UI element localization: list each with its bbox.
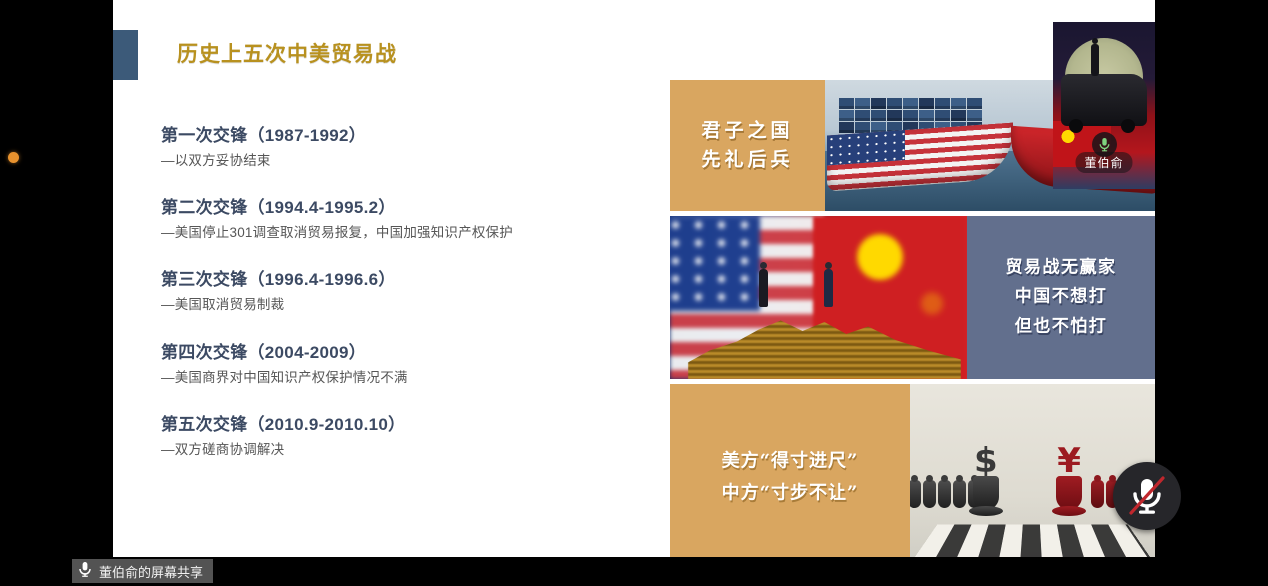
chess-caption-line2: 中方“寸步不让”: [722, 478, 859, 510]
bullet-detail: —双方磋商协调解决: [161, 440, 701, 460]
yuan-symbol: ¥: [1052, 444, 1086, 478]
cargo-caption-line1: 君子之国: [701, 116, 793, 145]
trade-war-caption-line1: 贸易战无赢家: [1006, 253, 1117, 283]
microphone-muted-icon: [1128, 475, 1166, 517]
businessman-figure-cn: [824, 269, 833, 307]
bullet-heading: 第三次交锋（1996.4-1996.6）: [161, 269, 701, 292]
person-silhouette: [1091, 44, 1099, 76]
bullet-heading: 第二次交锋（1994.4-1995.2）: [161, 197, 701, 220]
chess-caption-line1: 美方“得寸进尺”: [722, 445, 859, 477]
microphone-icon: [78, 561, 92, 581]
bullet-heading: 第五次交锋（2010.9-2010.10）: [161, 414, 701, 437]
bullet-heading: 第一次交锋（1987-1992）: [161, 125, 701, 148]
flags-coins-photo: [670, 216, 967, 379]
bullet-heading: 第四次交锋（2004-2009）: [161, 342, 701, 365]
chess-photo: $ ¥: [910, 384, 1155, 557]
bullet-detail: —美国取消贸易制裁: [161, 295, 701, 315]
cargo-caption: 君子之国 先礼后兵: [701, 116, 793, 175]
self-view-video-thumbnail[interactable]: 董伯俞: [1053, 22, 1155, 189]
cargo-caption-panel: 君子之国 先礼后兵: [670, 80, 825, 211]
trade-war-caption-panel: 贸易战无赢家 中国不想打 但也不怕打: [967, 216, 1155, 379]
screen-share-indicator[interactable]: 董伯俞的屏幕共享: [72, 559, 213, 583]
list-item: 第四次交锋（2004-2009） —美国商界对中国知识产权保护情况不满: [161, 342, 701, 388]
chess-caption: 美方“得寸进尺” 中方“寸步不让”: [722, 445, 859, 510]
jeep-silhouette: [1061, 74, 1147, 126]
trade-war-caption-line3: 但也不怕打: [1006, 312, 1117, 342]
businessman-figure-us: [759, 269, 768, 307]
list-item: 第一次交锋（1987-1992） —以双方妥协结束: [161, 125, 701, 171]
trade-war-caption-line2: 中国不想打: [1006, 283, 1117, 313]
bottom-bar: 董伯俞的屏幕共享: [0, 557, 1268, 586]
meeting-stage: 历史上五次中美贸易战 第一次交锋（1987-1992） —以双方妥协结束 第二次…: [0, 0, 1268, 586]
mute-toggle-button[interactable]: [1113, 462, 1181, 530]
participant-name-badge: 董伯俞: [1075, 152, 1132, 173]
chess-board: [910, 525, 1155, 557]
chess-caption-panel: 美方“得寸进尺” 中方“寸步不让”: [670, 384, 910, 557]
dollar-symbol: $: [969, 444, 1003, 478]
list-item: 第五次交锋（2010.9-2010.10） —双方磋商协调解决: [161, 414, 701, 460]
flags-coins-image: 贸易战无赢家 中国不想打 但也不怕打: [670, 216, 1155, 379]
page-title: 历史上五次中美贸易战: [177, 38, 397, 68]
trade-war-caption: 贸易战无赢家 中国不想打 但也不怕打: [1006, 253, 1117, 342]
bullet-list: 第一次交锋（1987-1992） —以双方妥协结束 第二次交锋（1994.4-1…: [161, 125, 701, 486]
slide-accent-bar: [113, 30, 138, 80]
list-item: 第二次交锋（1994.4-1995.2） —美国停止301调查取消贸易报复，中国…: [161, 197, 701, 243]
cargo-caption-line2: 先礼后兵: [701, 146, 793, 175]
list-item: 第三次交锋（1996.4-1996.6） —美国取消贸易制裁: [161, 269, 701, 315]
bullet-detail: —美国商界对中国知识产权保护情况不满: [161, 368, 701, 388]
bullet-detail: —美国停止301调查取消贸易报复，中国加强知识产权保护: [161, 223, 701, 243]
screen-share-label: 董伯俞的屏幕共享: [99, 562, 203, 581]
screen-root: 历史上五次中美贸易战 第一次交锋（1987-1992） —以双方妥协结束 第二次…: [0, 0, 1268, 586]
presence-indicator-dot: [8, 152, 19, 163]
yuan-chess-piece: ¥: [1052, 428, 1086, 510]
chess-image: 美方“得寸进尺” 中方“寸步不让” $: [670, 384, 1155, 557]
dollar-chess-piece: $: [969, 428, 1003, 510]
shared-slide[interactable]: 历史上五次中美贸易战 第一次交锋（1987-1992） —以双方妥协结束 第二次…: [113, 0, 1155, 557]
bullet-detail: —以双方妥协结束: [161, 151, 701, 171]
